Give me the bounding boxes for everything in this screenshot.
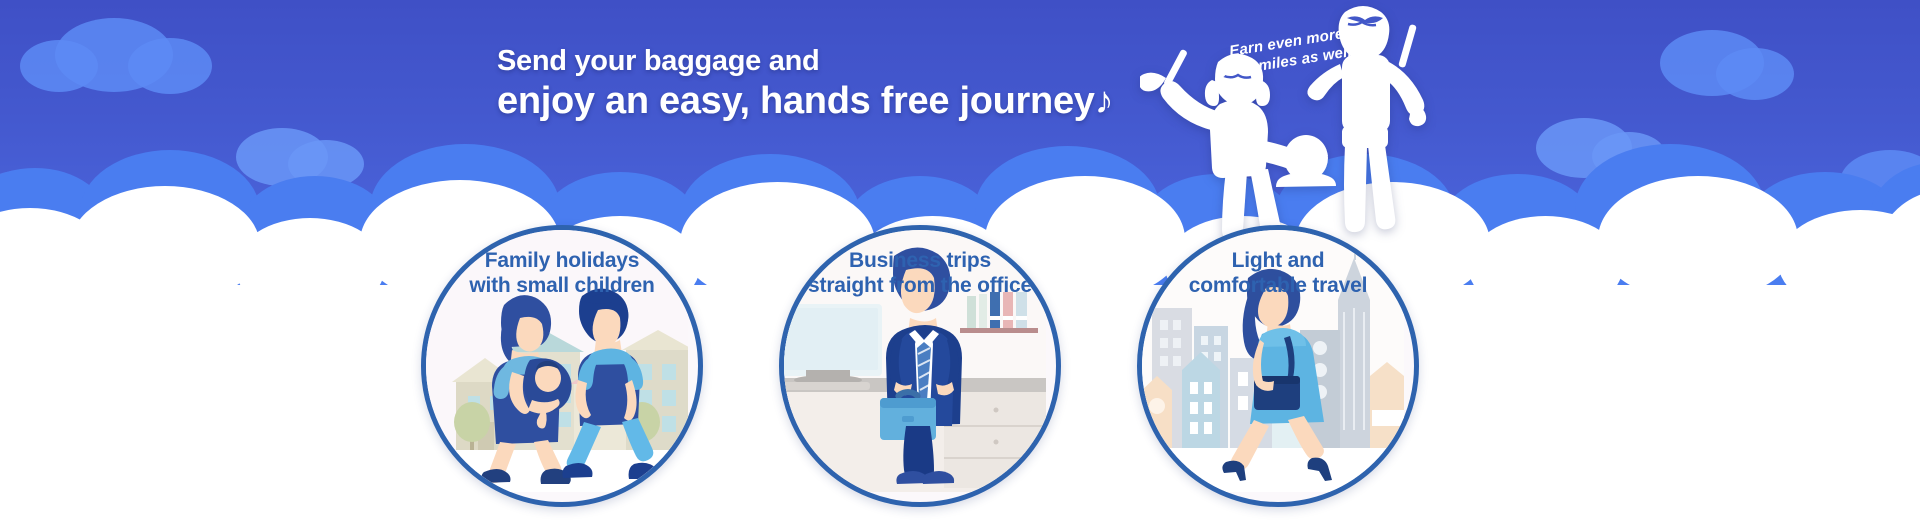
bubble-dash-right-icon — [1398, 24, 1417, 68]
feature-circle-business-trips[interactable]: Business trips straight from the office — [779, 225, 1061, 507]
feature-circle-family-holidays[interactable]: Family holidays with small children — [421, 225, 703, 507]
circle-caption: Business trips straight from the office — [784, 248, 1056, 298]
ana-baggage-delivery-banner: Send your baggage and enjoy an easy, han… — [0, 0, 1920, 530]
cloud-puff — [1598, 176, 1798, 302]
circle-caption: Light and comfortable travel — [1142, 248, 1414, 298]
promo-bubble-text: Earn even more ANA miles as well! — [1186, 19, 1389, 87]
cloud-puff — [70, 186, 260, 306]
circle-caption-line-2: with small children — [426, 273, 698, 298]
circle-caption-line-1: Business trips — [784, 248, 1056, 273]
headline: Send your baggage and enjoy an easy, han… — [497, 45, 1113, 124]
circle-caption-line-2: straight from the office — [784, 273, 1056, 298]
circle-caption-line-1: Family holidays — [426, 248, 698, 273]
circle-caption-line-1: Light and — [1142, 248, 1414, 273]
headline-line-1: Send your baggage and — [497, 45, 1113, 77]
sky-cloud — [128, 38, 212, 94]
sky-cloud — [20, 40, 98, 92]
promo-bubble: Earn even more ANA miles as well! — [1168, 18, 1428, 98]
sky-cloud — [1716, 48, 1794, 100]
headline-line-2: enjoy an easy, hands free journey♪ — [497, 79, 1113, 124]
circle-caption-line-2: comfortable travel — [1142, 273, 1414, 298]
circle-caption: Family holidays with small children — [426, 248, 698, 298]
feature-circle-light-comfortable-travel[interactable]: Light and comfortable travel — [1137, 225, 1419, 507]
